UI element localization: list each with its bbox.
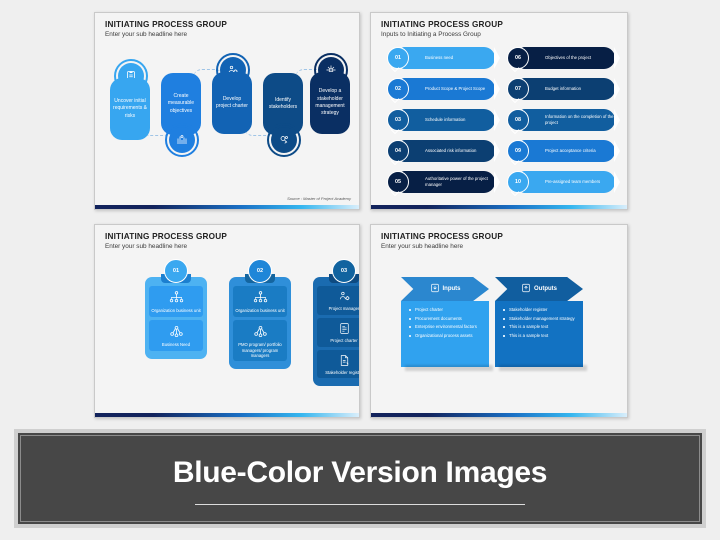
page-subtitle: Enter your sub headline here bbox=[381, 243, 463, 250]
page-subtitle: Enter your sub headline here bbox=[105, 31, 187, 38]
column-number-badge: 03 bbox=[332, 259, 356, 283]
panel-accent-bar bbox=[371, 413, 627, 417]
screenshot-root: INITIATING PROCESS GROUP Enter your sub … bbox=[0, 0, 720, 540]
inputs-outputs-diagram: Inputs Project charter Procurement docum… bbox=[401, 267, 616, 397]
card-label: Project charter bbox=[330, 338, 357, 343]
card-label: Organization business unit bbox=[151, 308, 200, 313]
list-item-number: 09 bbox=[507, 140, 529, 162]
target-chart-icon bbox=[169, 127, 195, 153]
clipboard-board: Organization business unit Business Need bbox=[145, 277, 207, 359]
list-item-label: Project acceptance criteria bbox=[521, 140, 615, 162]
card-item[interactable]: Organization business unit bbox=[149, 286, 203, 317]
network-people-icon bbox=[151, 324, 201, 340]
outputs-list: Stakeholder register Stakeholder managem… bbox=[503, 307, 579, 339]
list-item: Project charter bbox=[409, 307, 485, 313]
card-item[interactable]: Project manager bbox=[317, 286, 360, 315]
clipboard-columns: 01 Organization business unit Business N… bbox=[109, 259, 355, 409]
list-item-label: Budget information bbox=[521, 78, 615, 100]
slide-panel-clipboard-columns[interactable]: INITIATING PROCESS GROUP Enter your sub … bbox=[94, 224, 360, 418]
outputs-heading: Outputs bbox=[534, 286, 557, 292]
panel-accent-bar bbox=[95, 413, 359, 417]
list-item-number: 05 bbox=[387, 171, 409, 193]
process-flow-diagram: Uncover initial requirements & risks Cre… bbox=[105, 51, 353, 191]
inputs-block[interactable]: Inputs Project charter Procurement docum… bbox=[401, 277, 489, 367]
panel-accent-bar bbox=[371, 205, 627, 209]
list-item-label: Schedule information bbox=[401, 109, 495, 131]
process-step-1[interactable]: Uncover initial requirements & risks bbox=[110, 78, 150, 140]
inputs-heading: Inputs bbox=[443, 286, 461, 292]
page-title: INITIATING PROCESS GROUP bbox=[105, 232, 227, 241]
panel-accent-bar bbox=[95, 205, 359, 209]
list-item-label: Associated risk information bbox=[401, 140, 495, 162]
card-label: Business Need bbox=[162, 342, 190, 347]
card-label: Stakeholder register bbox=[325, 370, 360, 375]
download-box-icon bbox=[430, 283, 440, 295]
card-item[interactable]: Organization business unit bbox=[233, 286, 287, 317]
card-item[interactable]: Project charter bbox=[317, 318, 360, 347]
card-label: Organization business unit bbox=[235, 308, 284, 313]
card-item[interactable]: PMO program/ portfolio managers/ program… bbox=[233, 320, 287, 362]
list-item: Stakeholder register bbox=[503, 307, 579, 313]
card-label: Project manager bbox=[329, 306, 360, 311]
list-item-number: 02 bbox=[387, 78, 409, 100]
page-subtitle: Enter your sub headline here bbox=[105, 243, 187, 250]
slide-panel-inputs-list[interactable]: INITIATING PROCESS GROUP Inputs to Initi… bbox=[370, 12, 628, 210]
numbered-input-list: Business need 01 Product Scope & Project… bbox=[379, 47, 628, 207]
banner-title: Blue-Color Version Images bbox=[173, 456, 547, 490]
clipboard-board: Organization business unit PMO program/ … bbox=[229, 277, 291, 369]
block-shadow bbox=[499, 365, 587, 371]
list-item-number: 04 bbox=[387, 140, 409, 162]
list-item-number: 03 bbox=[387, 109, 409, 131]
process-step-3[interactable]: Develop project charter bbox=[212, 72, 252, 134]
inputs-list: Project charter Procurement documents En… bbox=[409, 307, 485, 339]
list-item-label: Business need bbox=[401, 47, 495, 69]
card-item[interactable]: Business Need bbox=[149, 320, 203, 351]
list-item-number: 10 bbox=[507, 171, 529, 193]
list-item: This is a sample text bbox=[503, 333, 579, 339]
org-chart-icon bbox=[151, 290, 201, 306]
page-title: INITIATING PROCESS GROUP bbox=[381, 232, 503, 241]
card-label: PMO program/ portfolio managers/ program… bbox=[238, 342, 282, 358]
list-item-number: 08 bbox=[507, 109, 529, 131]
list-item-label: Product Scope & Project Scope bbox=[401, 78, 495, 100]
list-item-number: 01 bbox=[387, 47, 409, 69]
column-number-badge: 02 bbox=[248, 259, 272, 283]
org-chart-icon bbox=[235, 290, 285, 306]
source-credit: Source : Master of Project Academy bbox=[287, 196, 351, 201]
network-people-icon bbox=[235, 324, 285, 340]
document-chart-icon bbox=[319, 322, 360, 336]
list-item: Enterprise environmental factors bbox=[409, 324, 485, 330]
outputs-block[interactable]: Outputs Stakeholder register Stakeholder… bbox=[495, 277, 583, 367]
card-item[interactable]: Stakeholder register bbox=[317, 350, 360, 379]
list-item: Procurement documents bbox=[409, 316, 485, 322]
inputs-header: Inputs bbox=[401, 277, 489, 301]
person-gear-icon bbox=[319, 290, 360, 304]
inputs-body: Project charter Procurement documents En… bbox=[401, 301, 489, 367]
list-item-number: 06 bbox=[507, 47, 529, 69]
document-pen-icon bbox=[319, 354, 360, 368]
process-step-5[interactable]: Develop a stakeholder management strateg… bbox=[310, 72, 350, 134]
list-item-label: Pre-assigned team members bbox=[521, 171, 615, 193]
slide-panel-inputs-outputs[interactable]: INITIATING PROCESS GROUP Enter your sub … bbox=[370, 224, 628, 418]
banner-divider bbox=[195, 504, 525, 505]
outputs-body: Stakeholder register Stakeholder managem… bbox=[495, 301, 583, 367]
list-item: Stakeholder management strategy bbox=[503, 316, 579, 322]
upload-box-icon bbox=[521, 283, 531, 295]
outputs-header: Outputs bbox=[495, 277, 583, 301]
list-item-number: 07 bbox=[507, 78, 529, 100]
list-item: This is a sample text bbox=[503, 324, 579, 330]
list-item: Organizational process assets bbox=[409, 333, 485, 339]
bottom-banner: Blue-Color Version Images bbox=[14, 429, 706, 528]
people-search-icon bbox=[271, 127, 297, 153]
page-subtitle: Inputs to Initiating a Process Group bbox=[381, 31, 481, 38]
column-number-badge: 01 bbox=[164, 259, 188, 283]
page-title: INITIATING PROCESS GROUP bbox=[381, 20, 503, 29]
slide-panel-process-flow[interactable]: INITIATING PROCESS GROUP Enter your sub … bbox=[94, 12, 360, 210]
list-item-label: Authoritative power of the project manag… bbox=[401, 171, 495, 193]
block-shadow bbox=[405, 365, 493, 371]
clipboard-board: Project manager Project charter Stakehol… bbox=[313, 277, 360, 386]
page-title: INITIATING PROCESS GROUP bbox=[105, 20, 227, 29]
list-item-label: Objectives of the project bbox=[521, 47, 615, 69]
list-item-label: Information on the completion of the pro… bbox=[521, 109, 615, 131]
